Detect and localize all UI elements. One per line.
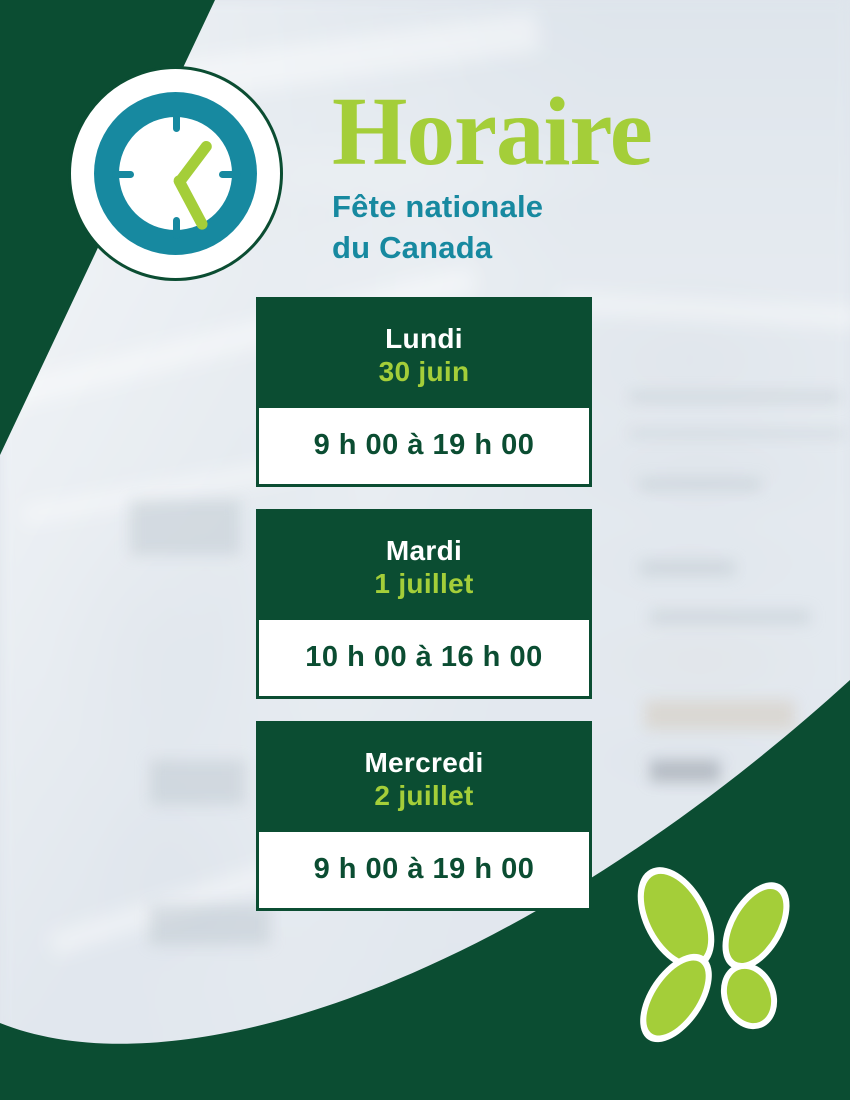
schedule-hours: 9 h 00 à 19 h 00 — [269, 854, 579, 886]
page-title: Horaire — [332, 84, 772, 179]
butterfly-petal-upper-right — [709, 871, 804, 981]
subtitle-line-2: du Canada — [332, 228, 772, 269]
schedule-day: Mercredi — [269, 746, 579, 779]
schedule-date: 1 juillet — [269, 567, 579, 600]
background-blur-shape — [150, 760, 245, 805]
schedule-card-header: Lundi 30 juin — [259, 300, 589, 408]
schedule-hours: 9 h 00 à 19 h 00 — [269, 430, 579, 462]
schedule-hours: 10 h 00 à 16 h 00 — [269, 642, 579, 674]
clock-tick-3 — [219, 171, 241, 178]
subtitle-line-1: Fête nationale — [332, 187, 772, 228]
background-blur-shape — [150, 905, 270, 945]
background-blur-shape — [630, 392, 840, 402]
schedule-card-list: Lundi 30 juin 9 h 00 à 19 h 00 Mardi 1 j… — [256, 297, 592, 933]
schedule-card: Lundi 30 juin 9 h 00 à 19 h 00 — [256, 297, 592, 487]
schedule-card-body: 9 h 00 à 19 h 00 — [259, 408, 589, 484]
clock-icon — [68, 66, 283, 281]
page-subtitle: Fête nationale du Canada — [332, 187, 772, 269]
background-blur-shape — [640, 478, 760, 490]
poster-canvas: Horaire Fête nationale du Canada Lundi 3… — [0, 0, 850, 1100]
background-blur-shape — [130, 500, 240, 555]
background-blur-shape — [645, 700, 795, 730]
schedule-card-header: Mardi 1 juillet — [259, 512, 589, 620]
schedule-day: Lundi — [269, 322, 579, 355]
schedule-card: Mercredi 2 juillet 9 h 00 à 19 h 00 — [256, 721, 592, 911]
background-blur-shape — [640, 560, 735, 576]
schedule-card-header: Mercredi 2 juillet — [259, 724, 589, 832]
clock-face — [119, 117, 232, 230]
schedule-day: Mardi — [269, 534, 579, 567]
butterfly-logo-icon — [616, 856, 816, 1056]
heading-block: Horaire Fête nationale du Canada — [332, 84, 772, 269]
schedule-date: 30 juin — [269, 355, 579, 388]
clock-tick-9 — [112, 171, 134, 178]
background-blur-shape — [630, 430, 845, 437]
clock-tick-12 — [173, 110, 180, 132]
schedule-card: Mardi 1 juillet 10 h 00 à 16 h 00 — [256, 509, 592, 699]
schedule-date: 2 juillet — [269, 779, 579, 812]
schedule-card-body: 10 h 00 à 16 h 00 — [259, 620, 589, 696]
butterfly-petal-lower-right — [711, 954, 787, 1037]
background-blur-shape — [650, 760, 720, 782]
schedule-card-body: 9 h 00 à 19 h 00 — [259, 832, 589, 908]
background-blur-shape — [650, 610, 810, 624]
clock-tick-6 — [173, 217, 180, 239]
